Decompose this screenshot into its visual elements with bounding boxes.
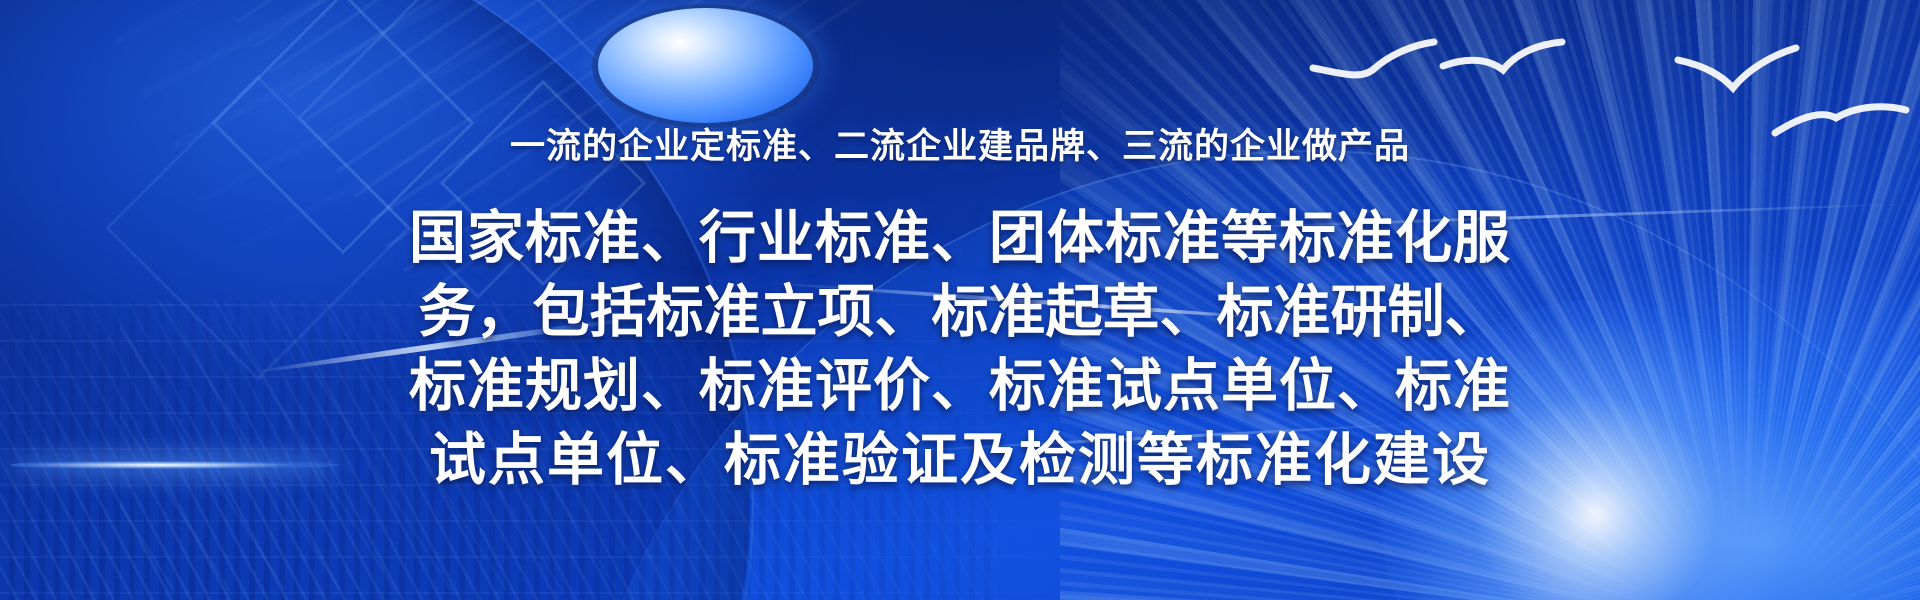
headline-line: 标准规划、标准评价、标准试点单位、标准 xyxy=(330,349,1590,423)
headline-line: 国家标准、行业标准、团体标准等标准化服 xyxy=(330,201,1590,275)
banner-headline: 国家标准、行业标准、团体标准等标准化服 务，包括标准立项、标准起草、标准研制、 … xyxy=(330,201,1590,497)
headline-line: 试点单位、标准验证及检测等标准化建设 xyxy=(330,423,1590,497)
headline-line: 务，包括标准立项、标准起草、标准研制、 xyxy=(330,275,1590,349)
banner-content: 一流的企业定标准、二流企业建品牌、三流的企业做产品 国家标准、行业标准、团体标准… xyxy=(0,0,1920,600)
promo-banner: 一流的企业定标准、二流企业建品牌、三流的企业做产品 国家标准、行业标准、团体标准… xyxy=(0,0,1920,600)
banner-subtitle: 一流的企业定标准、二流企业建品牌、三流的企业做产品 xyxy=(510,128,1410,167)
